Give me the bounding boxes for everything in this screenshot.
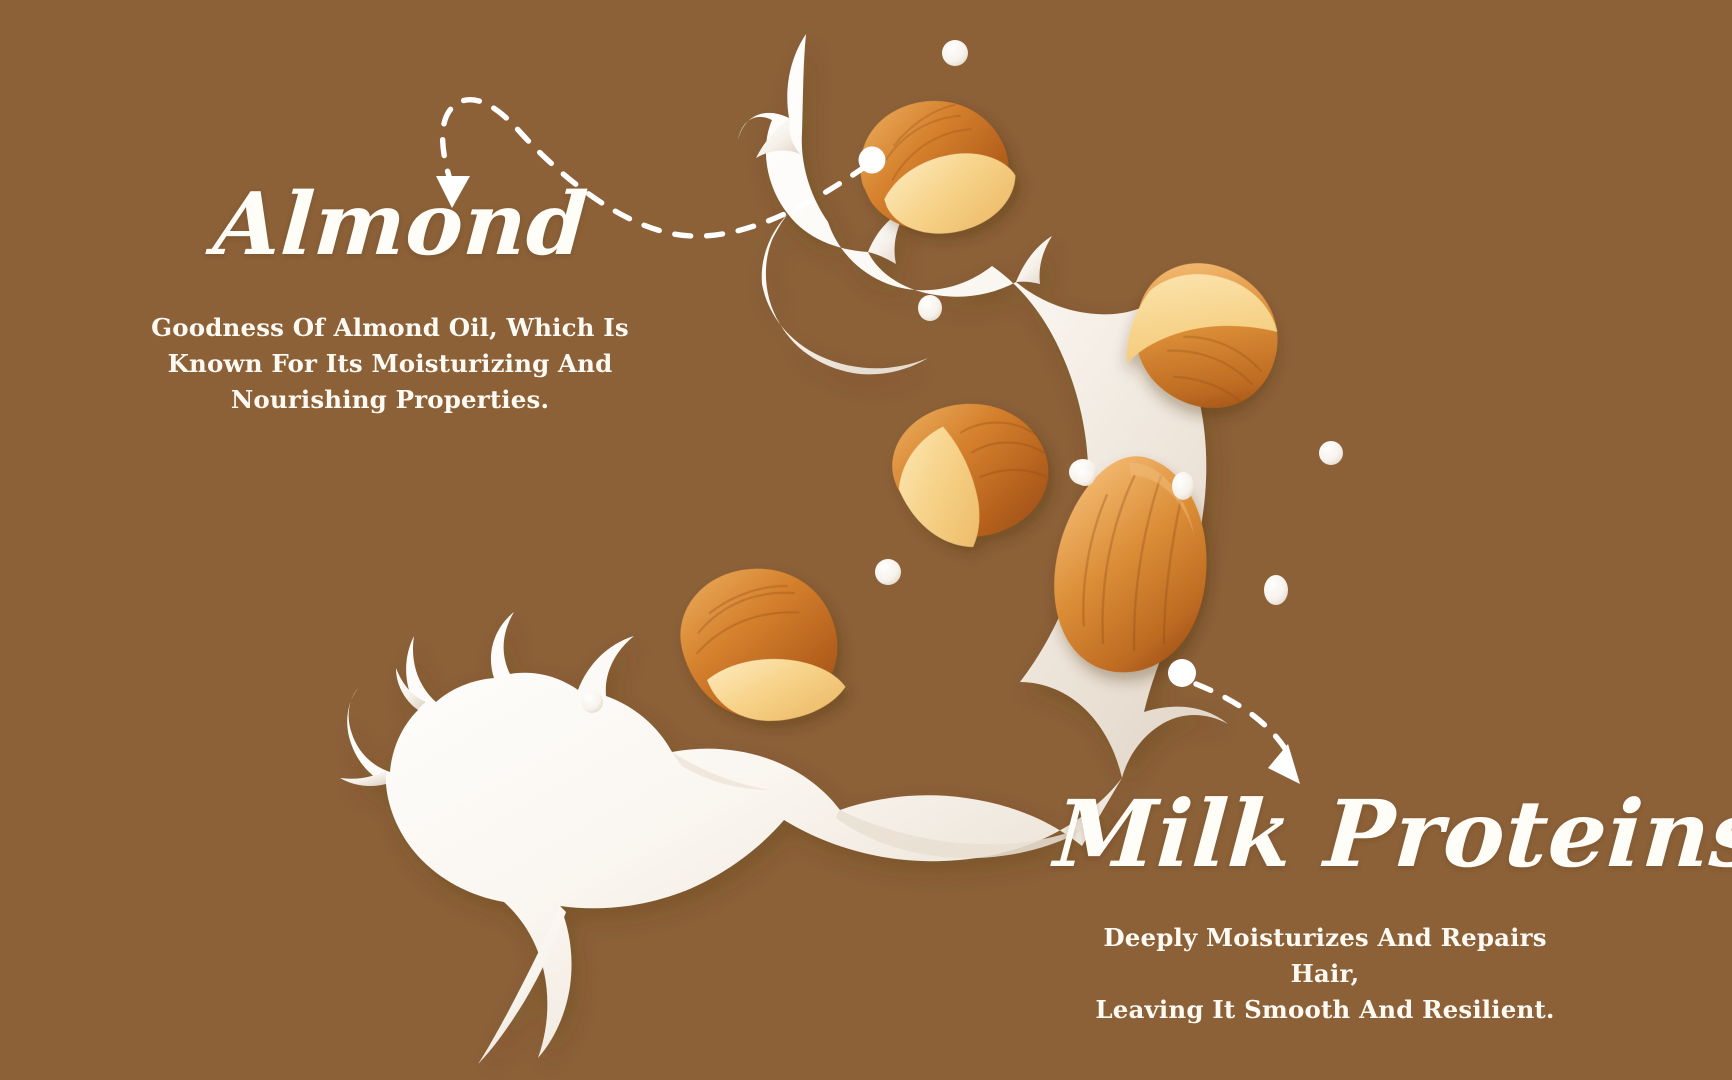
milk-arrowhead-icon xyxy=(1268,744,1300,784)
annotation-connectors xyxy=(0,0,1732,1080)
body-copy-almond-line-3: Nourishing Properties. xyxy=(150,382,630,418)
heading-milk-proteins: Milk Proteins xyxy=(1052,788,1732,880)
connector-milk-proteins xyxy=(1168,659,1300,784)
poster-canvas: Almond Goodness Of Almond Oil, Which Is … xyxy=(0,0,1732,1080)
body-copy-almond-line-2: Known For Its Moisturizing And xyxy=(150,346,630,382)
milk-anchor-dot xyxy=(1168,659,1196,687)
body-copy-milk-line-2: Leaving It Smooth And Resilient. xyxy=(1070,992,1580,1028)
body-copy-milk-line-1: Deeply Moisturizes And Repairs Hair, xyxy=(1070,920,1580,992)
body-copy-almond-line-1: Goodness Of Almond Oil, Which Is xyxy=(150,310,630,346)
body-copy-almond: Goodness Of Almond Oil, Which Is Known F… xyxy=(150,310,630,417)
almond-anchor-dot xyxy=(859,147,886,174)
heading-almond: Almond xyxy=(211,182,590,268)
body-copy-milk-proteins: Deeply Moisturizes And Repairs Hair, Lea… xyxy=(1070,920,1580,1027)
milk-dashed-path xyxy=(1196,684,1286,750)
